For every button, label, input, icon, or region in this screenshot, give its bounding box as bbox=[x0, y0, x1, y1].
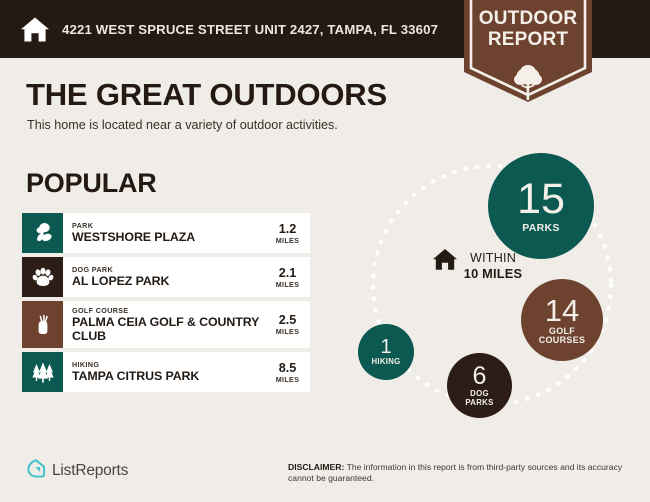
list-item-distance: 2.5 MILES bbox=[270, 301, 310, 348]
paw-print-icon bbox=[22, 257, 63, 297]
bubble-label: GOLF COURSES bbox=[539, 327, 586, 346]
list-item-distance: 1.2 MILES bbox=[270, 213, 310, 253]
distance-unit: MILES bbox=[276, 280, 299, 289]
bubble-value: 15 bbox=[517, 178, 565, 221]
within-10-miles-bubble-chart: 15 PARKS 14 GOLF COURSES 6 DOG PARKS 1 H… bbox=[340, 150, 650, 440]
chart-center-label: WITHIN 10 MILES bbox=[432, 248, 554, 281]
badge-line-1: OUTDOOR bbox=[464, 8, 592, 29]
bubble-golf-courses[interactable]: 14 GOLF COURSES bbox=[521, 279, 603, 361]
list-item[interactable]: HIKING TAMPA CITRUS PARK 8.5 MILES bbox=[22, 352, 310, 392]
list-item-name: AL LOPEZ PARK bbox=[72, 275, 266, 289]
bubble-value: 6 bbox=[473, 364, 487, 389]
bubble-label: HIKING bbox=[371, 358, 400, 366]
distance-value: 1.2 bbox=[279, 222, 297, 236]
list-item[interactable]: DOG PARK AL LOPEZ PARK 2.1 MILES bbox=[22, 257, 310, 297]
distance-value: 8.5 bbox=[279, 361, 297, 375]
list-item-name: PALMA CEIA GOLF & COUNTRY CLUB bbox=[72, 316, 266, 343]
golf-bag-icon bbox=[22, 301, 63, 348]
bubble-label: DOG PARKS bbox=[465, 390, 493, 406]
bubble-label-line-2: COURSES bbox=[539, 336, 586, 345]
distance-unit: MILES bbox=[276, 327, 299, 336]
badge-line-2: REPORT bbox=[464, 29, 592, 50]
list-item-body: HIKING TAMPA CITRUS PARK bbox=[63, 352, 270, 392]
distance-unit: MILES bbox=[276, 236, 299, 245]
page-title: THE GREAT OUTDOORS bbox=[26, 77, 387, 113]
listreports-house-logo-icon bbox=[26, 458, 46, 484]
distance-value: 2.1 bbox=[279, 266, 297, 280]
bubble-hiking[interactable]: 1 HIKING bbox=[358, 324, 414, 380]
list-item-name: WESTSHORE PLAZA bbox=[72, 231, 266, 245]
page-subtitle: This home is located near a variety of o… bbox=[27, 118, 338, 132]
park-tree-icon bbox=[22, 213, 63, 253]
bubble-dog-parks[interactable]: 6 DOG PARKS bbox=[447, 353, 512, 418]
distance-unit: MILES bbox=[276, 375, 299, 384]
bubble-label-line-2: PARKS bbox=[465, 399, 493, 407]
popular-list: PARK WESTSHORE PLAZA 1.2 MILES bbox=[22, 213, 310, 396]
bubble-label: PARKS bbox=[522, 223, 559, 234]
list-item-distance: 2.1 MILES bbox=[270, 257, 310, 297]
bubble-parks[interactable]: 15 PARKS bbox=[488, 153, 594, 259]
outdoor-report-page: 4221 WEST SPRUCE STREET UNIT 2427, TAMPA… bbox=[0, 0, 650, 502]
listreports-logo[interactable]: ListReports bbox=[26, 458, 128, 484]
pine-trees-icon bbox=[22, 352, 63, 392]
list-item-distance: 8.5 MILES bbox=[270, 352, 310, 392]
popular-heading: POPULAR bbox=[26, 168, 157, 199]
list-item-body: PARK WESTSHORE PLAZA bbox=[63, 213, 270, 253]
list-item[interactable]: GOLF COURSE PALMA CEIA GOLF & COUNTRY CL… bbox=[22, 301, 310, 348]
list-item[interactable]: PARK WESTSHORE PLAZA 1.2 MILES bbox=[22, 213, 310, 253]
distance-value: 2.5 bbox=[279, 313, 297, 327]
home-icon bbox=[20, 15, 50, 43]
list-item-body: GOLF COURSE PALMA CEIA GOLF & COUNTRY CL… bbox=[63, 301, 270, 348]
listreports-logo-text: ListReports bbox=[52, 462, 128, 480]
list-item-name: TAMPA CITRUS PARK bbox=[72, 370, 266, 384]
bubble-value: 1 bbox=[380, 337, 391, 357]
property-address: 4221 WEST SPRUCE STREET UNIT 2427, TAMPA… bbox=[62, 22, 438, 37]
bubble-value: 14 bbox=[545, 295, 579, 326]
disclaimer-label: DISCLAIMER: bbox=[288, 462, 344, 472]
disclaimer: DISCLAIMER: The information in this repo… bbox=[288, 462, 636, 484]
outdoor-report-badge: OUTDOOR REPORT bbox=[464, 0, 592, 102]
badge-title: OUTDOOR REPORT bbox=[464, 8, 592, 50]
list-item-body: DOG PARK AL LOPEZ PARK bbox=[63, 257, 270, 297]
